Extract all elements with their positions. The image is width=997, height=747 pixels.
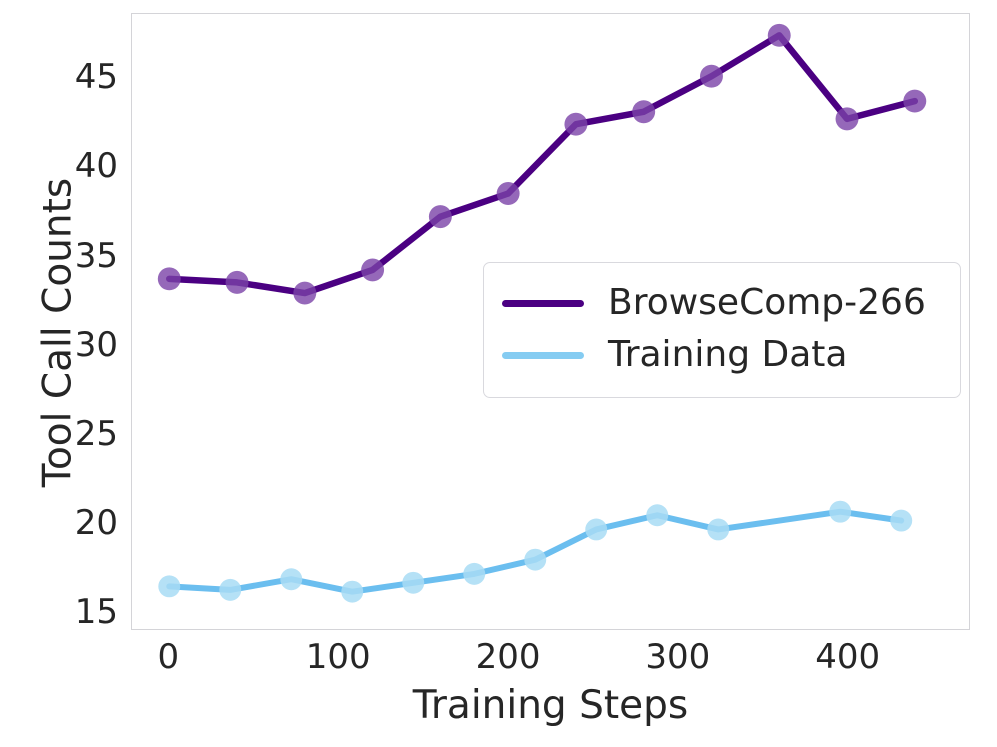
x-tick-label: 300: [645, 637, 710, 677]
data-point: [836, 107, 859, 130]
data-point: [293, 282, 316, 305]
data-point: [341, 581, 363, 603]
data-point: [219, 579, 241, 601]
data-point: [463, 563, 485, 585]
chart-legend: BrowseComp-266 Training Data: [483, 262, 961, 398]
data-point: [768, 24, 791, 47]
data-point: [524, 549, 546, 571]
data-point: [564, 113, 587, 136]
data-point: [646, 504, 668, 526]
data-point: [497, 182, 520, 205]
data-point: [829, 501, 851, 523]
data-point: [700, 65, 723, 88]
data-point: [890, 510, 912, 532]
data-point: [280, 568, 302, 590]
legend-label-browsecomp-266: BrowseComp-266: [608, 285, 926, 321]
y-axis-title: Tool Call Counts: [36, 13, 81, 653]
data-point: [226, 271, 249, 294]
data-point: [632, 100, 655, 123]
x-tick-label: 0: [158, 637, 180, 677]
legend-item-training-data[interactable]: Training Data: [502, 329, 942, 381]
legend-item-browsecomp-266[interactable]: BrowseComp-266: [502, 277, 942, 329]
data-point: [158, 267, 181, 290]
legend-color-swatch-training-data: [502, 352, 584, 359]
data-point: [429, 205, 452, 228]
data-point: [707, 518, 729, 540]
x-tick-label: 200: [476, 637, 541, 677]
data-point: [585, 518, 607, 540]
legend-color-swatch-browsecomp-266: [502, 300, 584, 307]
x-axis-title: Training Steps: [131, 683, 970, 728]
x-tick-label: 400: [815, 637, 880, 677]
x-tick-label: 100: [306, 637, 371, 677]
data-point: [158, 575, 180, 597]
data-point: [361, 258, 384, 281]
data-point: [903, 90, 926, 113]
legend-label-training-data: Training Data: [608, 337, 847, 373]
data-point: [402, 572, 424, 594]
chart-figure: Tool Call Counts 15202530354045 01002003…: [0, 0, 997, 747]
series-line-browsecomp-266: [169, 35, 915, 293]
